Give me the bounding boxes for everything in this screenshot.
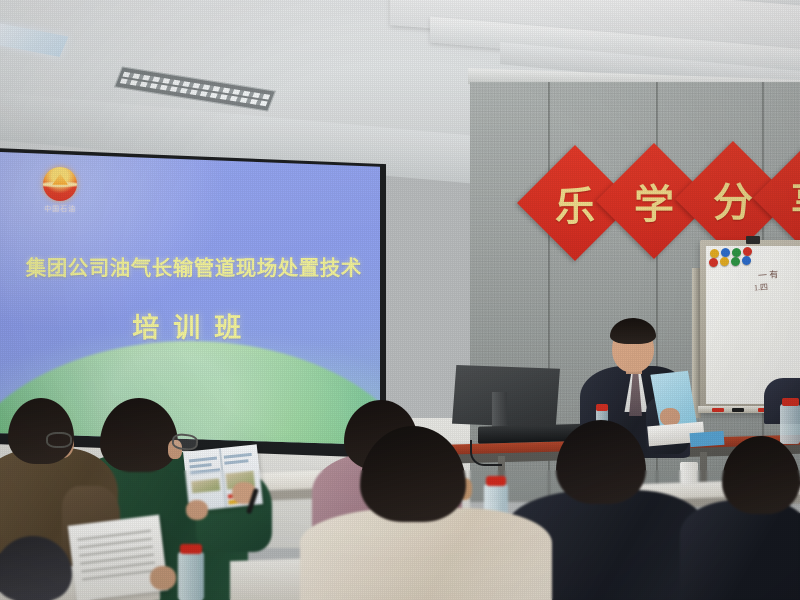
bottle-cap <box>596 404 608 411</box>
attendee-dark-suit-right-torso <box>680 500 800 600</box>
marker-icon[interactable] <box>712 408 724 412</box>
magnet-icon[interactable] <box>720 257 729 266</box>
marker-icon[interactable] <box>732 408 744 412</box>
water-bottle <box>178 552 204 600</box>
magnet-icon[interactable] <box>731 257 740 266</box>
magnet-icon[interactable] <box>709 258 718 267</box>
slide-title: 集团公司油气长输管道现场处置技术 <box>19 251 369 281</box>
logo-caption: 中国石油 <box>34 204 86 214</box>
water-bottle <box>780 404 800 444</box>
cable <box>470 440 502 466</box>
attendee-hand <box>150 566 176 590</box>
bottle-cap <box>486 476 506 486</box>
bottle-cap <box>180 544 202 554</box>
magnet-icon[interactable] <box>721 248 730 257</box>
petrochina-logo: 中国石油 <box>34 167 86 225</box>
bottle-cap <box>782 398 799 406</box>
magnet-icon[interactable] <box>732 248 741 257</box>
whiteboard-note-2: 1.四 <box>754 282 769 294</box>
paper-cup <box>680 462 698 484</box>
training-room-photo: 中国石油 集团公司油气长输管道现场处置技术 培训班 乐 学 分 享 一 有 1.… <box>0 0 800 600</box>
whiteboard-clip <box>746 236 760 244</box>
magnet-icon[interactable] <box>710 249 719 258</box>
attendee-hand <box>186 500 208 520</box>
banner-character: 享 <box>770 157 800 239</box>
whiteboard-note-1: 一 有 <box>758 267 779 281</box>
magnet-icon[interactable] <box>743 247 752 256</box>
magnet-icon[interactable] <box>742 256 751 265</box>
eyeglasses-icon <box>46 432 72 448</box>
blue-folder <box>690 431 725 447</box>
slide-subtitle: 培训班 <box>19 306 369 345</box>
sun-emblem-icon <box>43 167 77 201</box>
